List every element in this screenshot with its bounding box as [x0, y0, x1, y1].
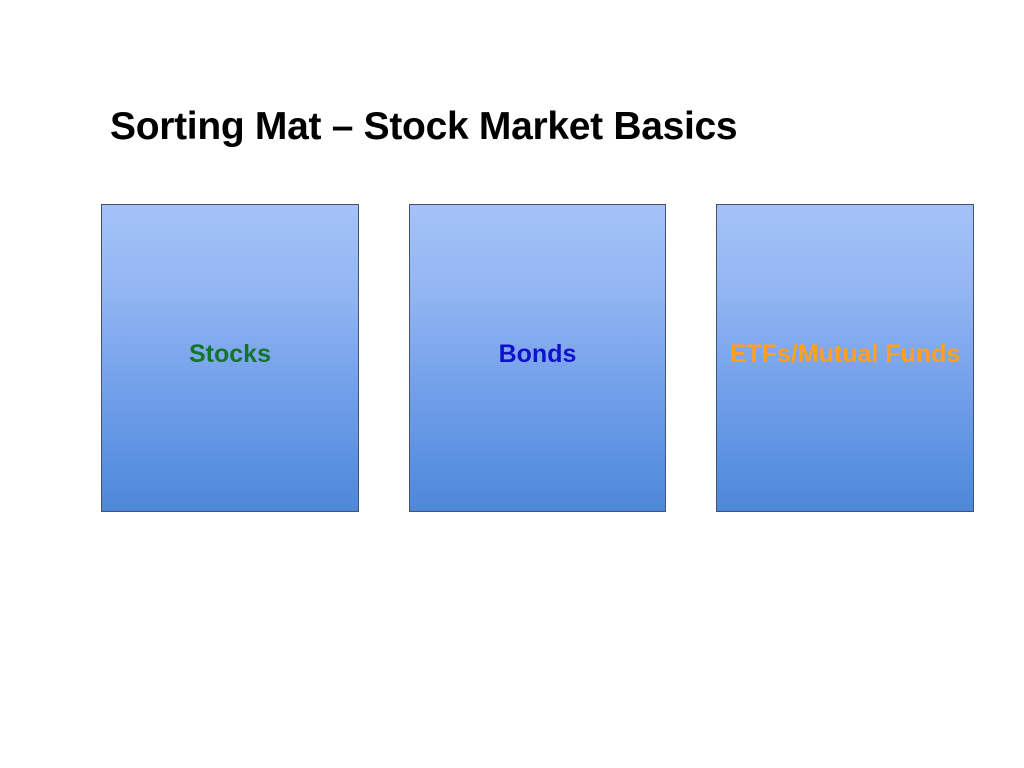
slide-canvas: Sorting Mat – Stock Market Basics Stocks… — [0, 0, 1024, 768]
sorting-mat-columns: Stocks Bonds ETFs/Mutual Funds — [0, 0, 1024, 768]
sorting-mat-column-stocks[interactable]: Stocks — [101, 204, 359, 512]
sorting-mat-column-label: Stocks — [189, 342, 271, 367]
sorting-mat-column-etfs-mutual-funds[interactable]: ETFs/Mutual Funds — [716, 204, 974, 512]
sorting-mat-column-label: Bonds — [499, 342, 577, 367]
sorting-mat-column-bonds[interactable]: Bonds — [409, 204, 666, 512]
sorting-mat-column-label: ETFs/Mutual Funds — [730, 342, 961, 367]
